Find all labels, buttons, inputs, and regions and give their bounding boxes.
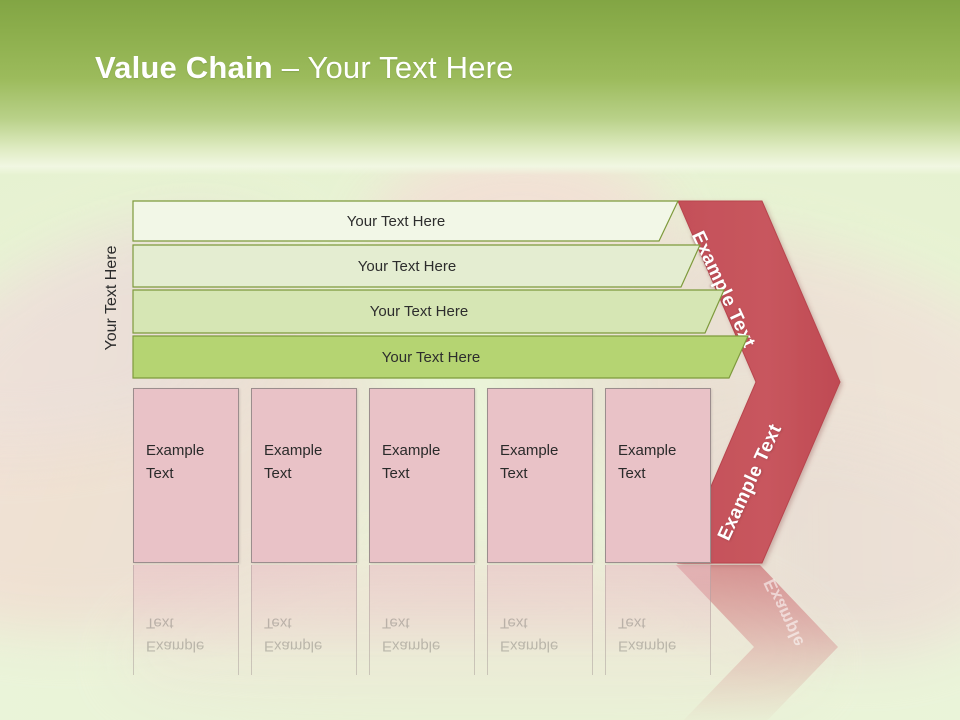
example-box-3-text: Example Text (382, 439, 440, 486)
refl-4-line2: Text (500, 614, 528, 631)
bar-3-label: Your Text Here (133, 290, 705, 333)
example-box-2-line1: Example (264, 442, 322, 459)
example-box-5-line1: Example (618, 442, 676, 459)
example-box-3-reflection: Example Text (369, 565, 475, 675)
refl-3-line2: Text (382, 614, 410, 631)
example-box-3-reflection-text: Example Text (382, 611, 440, 658)
example-box-5-reflection: Example Text (605, 565, 711, 675)
refl-1-line2: Text (146, 614, 174, 631)
example-box-2-reflection-text: Example Text (264, 611, 322, 658)
example-box-4-line2: Text (500, 465, 528, 482)
bar-4-hit[interactable]: Your Text Here (133, 336, 729, 378)
bar-1-label: Your Text Here (133, 201, 659, 241)
example-box-5-line2: Text (618, 465, 646, 482)
example-box-1-line1: Example (146, 442, 204, 459)
example-box-3[interactable]: Example Text (369, 388, 475, 563)
example-box-1[interactable]: Example Text (133, 388, 239, 563)
example-box-5[interactable]: Example Text (605, 388, 711, 563)
refl-4-line1: Example (500, 637, 558, 654)
refl-1-line1: Example (146, 637, 204, 654)
refl-5-line1: Example (618, 637, 676, 654)
example-box-5-text: Example Text (618, 439, 676, 486)
example-box-1-reflection: Example Text (133, 565, 239, 675)
refl-2-line2: Text (264, 614, 292, 631)
bar-2-label: Your Text Here (133, 245, 681, 287)
example-box-4-text: Example Text (500, 439, 558, 486)
example-box-2-line2: Text (264, 465, 292, 482)
example-box-2-reflection: Example Text (251, 565, 357, 675)
example-box-3-line2: Text (382, 465, 410, 482)
example-box-1-line2: Text (146, 465, 174, 482)
refl-3-line1: Example (382, 637, 440, 654)
example-box-4-line1: Example (500, 442, 558, 459)
example-box-5-reflection-text: Example Text (618, 611, 676, 658)
example-box-3-line1: Example (382, 442, 440, 459)
refl-2-line1: Example (264, 637, 322, 654)
example-box-1-reflection-text: Example Text (146, 611, 204, 658)
example-box-2-text: Example Text (264, 439, 322, 486)
example-box-4-reflection: Example Text (487, 565, 593, 675)
example-box-2[interactable]: Example Text (251, 388, 357, 563)
refl-5-line2: Text (618, 614, 646, 631)
bar-2-hit[interactable]: Your Text Here (133, 245, 681, 287)
example-box-4-reflection-text: Example Text (500, 611, 558, 658)
example-box-1-text: Example Text (146, 439, 204, 486)
example-box-4[interactable]: Example Text (487, 388, 593, 563)
bar-1-hit[interactable]: Your Text Here (133, 201, 659, 241)
slide-canvas: Value Chain – Your Text Here Your Text H… (0, 0, 960, 720)
bar-4-label: Your Text Here (133, 336, 729, 378)
bar-3-hit[interactable]: Your Text Here (133, 290, 705, 333)
